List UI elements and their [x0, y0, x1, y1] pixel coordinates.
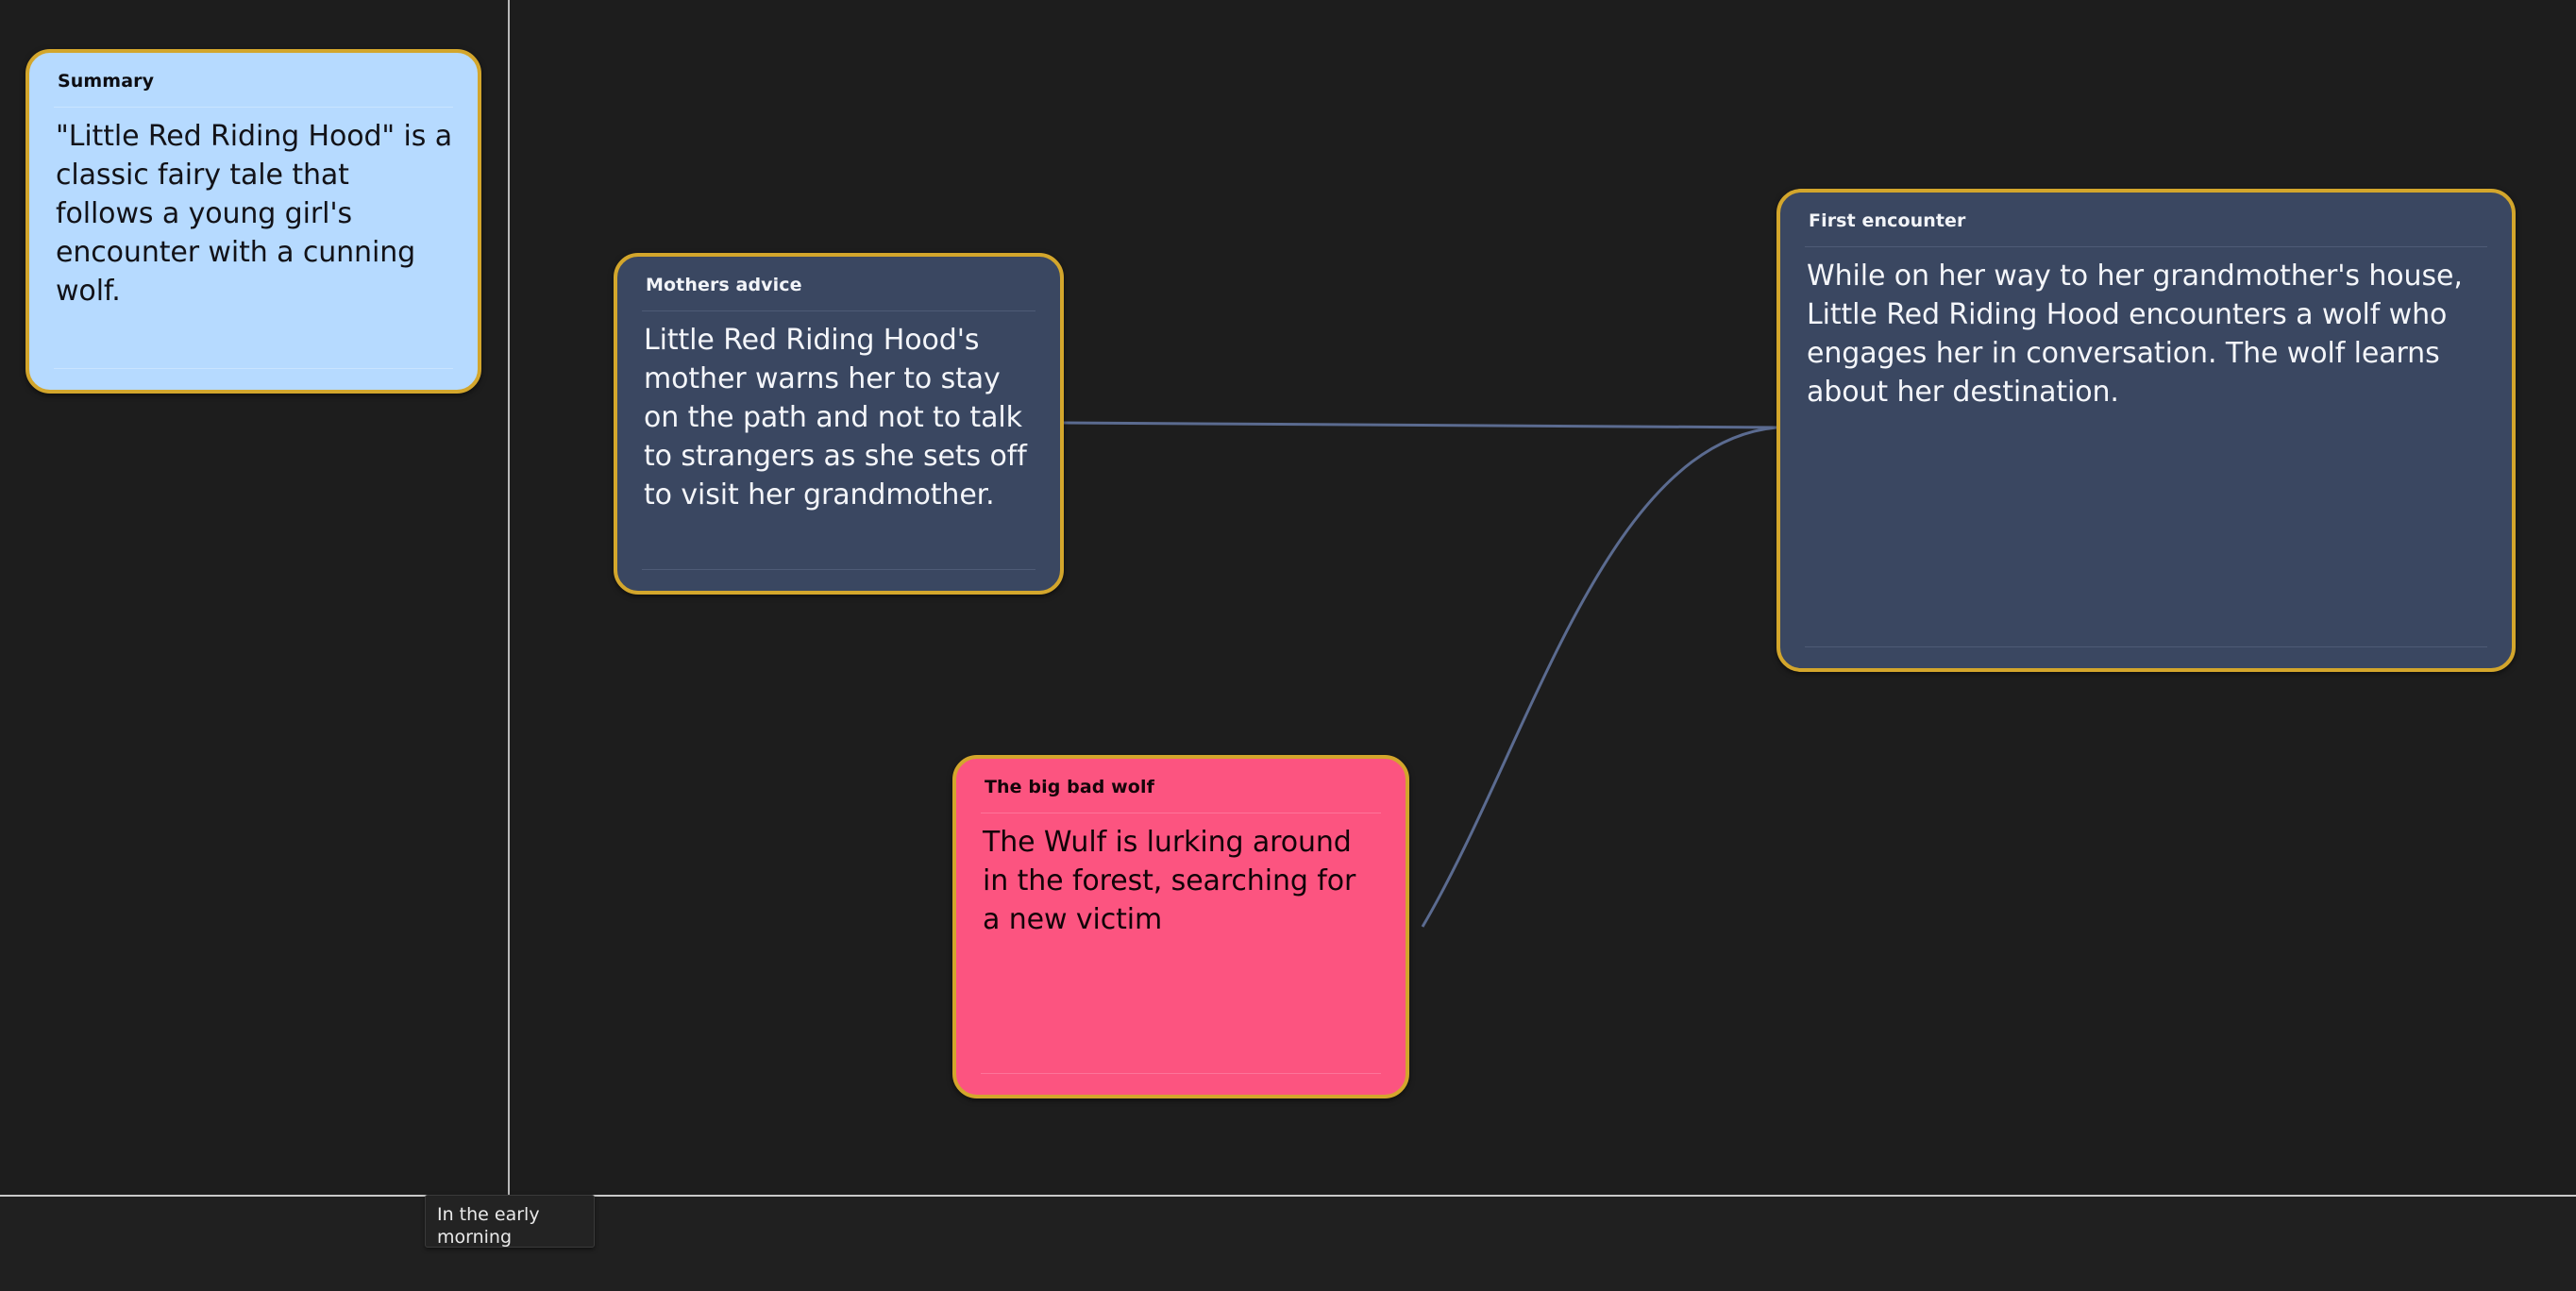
card-footer-separator — [642, 569, 1035, 570]
card-the-big-bad-wolf[interactable]: The big bad wolf The Wulf is lurking aro… — [952, 755, 1409, 1098]
card-title: Mothers advice — [617, 257, 1060, 295]
card-summary[interactable]: Summary "Little Red Riding Hood" is a cl… — [25, 49, 481, 394]
card-body[interactable]: While on her way to her grandmother's ho… — [1780, 247, 2512, 646]
card-mothers-advice[interactable]: Mothers advice Little Red Riding Hood's … — [614, 253, 1064, 595]
timeline-label-tooltip[interactable]: In the early morning — [425, 1195, 595, 1248]
card-title: First encounter — [1780, 193, 2512, 231]
card-first-encounter[interactable]: First encounter While on her way to her … — [1776, 189, 2516, 672]
card-body[interactable]: "Little Red Riding Hood" is a classic fa… — [29, 108, 478, 368]
mindmap-canvas[interactable]: Summary "Little Red Riding Hood" is a cl… — [0, 0, 2576, 1291]
canvas-lower-strip — [0, 1197, 2576, 1291]
card-title: The big bad wolf — [956, 759, 1406, 797]
connector-mothers-advice-to-first-encounter[interactable] — [1064, 423, 1776, 428]
card-footer-separator — [981, 1073, 1381, 1074]
card-body[interactable]: The Wulf is lurking around in the forest… — [956, 813, 1406, 1073]
horizontal-guide-line[interactable] — [0, 1195, 2576, 1197]
card-title: Summary — [29, 53, 478, 92]
card-body[interactable]: Little Red Riding Hood's mother warns he… — [617, 311, 1060, 569]
card-footer-separator — [54, 368, 453, 369]
vertical-guide-line[interactable] — [508, 0, 510, 1197]
connector-big-bad-wolf-to-first-encounter[interactable] — [1423, 428, 1776, 927]
card-footer-separator — [1805, 646, 2487, 647]
